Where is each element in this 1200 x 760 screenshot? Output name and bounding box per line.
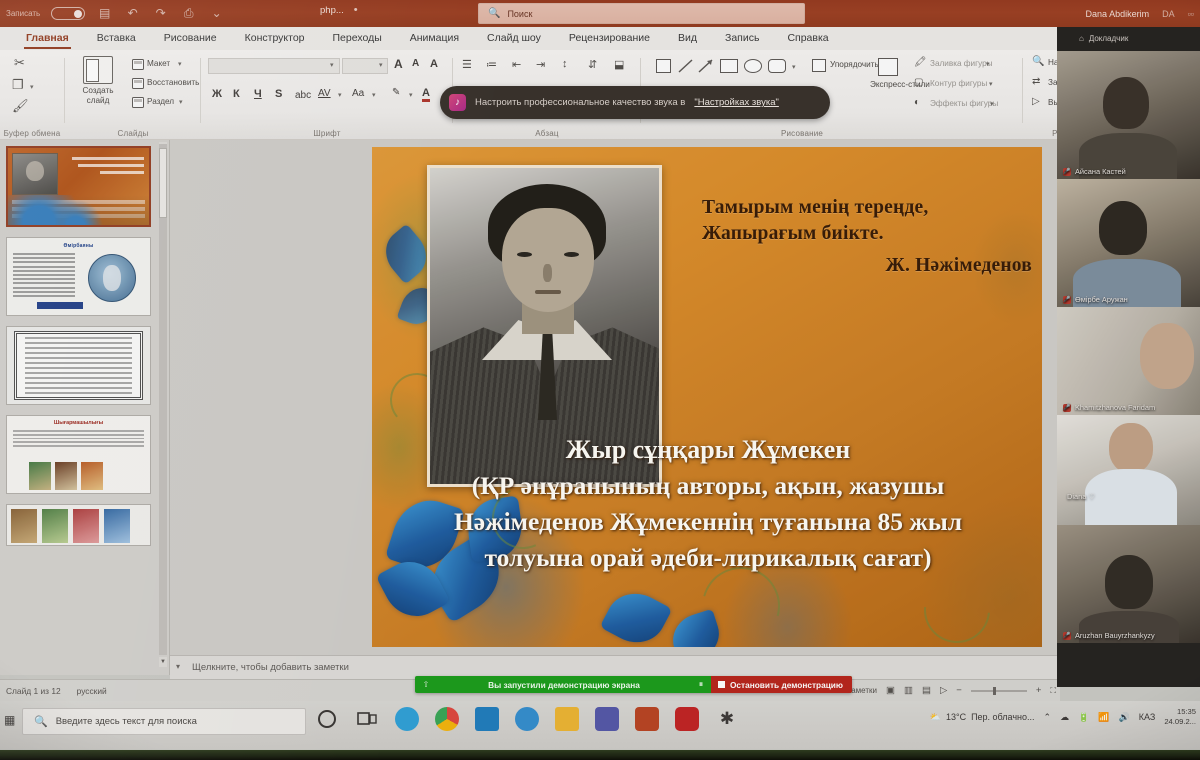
cortana-icon[interactable]	[315, 707, 339, 731]
weather-widget[interactable]: ⛅ 13°C Пер. облачно...	[930, 712, 1035, 723]
share-screen-icon: ⇧	[415, 680, 437, 689]
quote-line-1: Тамырым менің тереңде,	[702, 197, 928, 218]
group-clipboard: ✂ ❐ ▾ 🖌 Буфер обмена	[0, 50, 64, 140]
youtube-icon[interactable]	[675, 707, 699, 731]
format-painter-icon[interactable]: 🖌	[12, 98, 29, 114]
zoom-out-button[interactable]: −	[956, 685, 962, 696]
account-area[interactable]: Dana Abdikerim DA ▫▫	[1086, 0, 1194, 27]
taskbar-search-box[interactable]: 🔍 Введите здесь текст для поиска	[22, 708, 306, 735]
person-head	[1103, 77, 1149, 129]
reset-icon[interactable]	[132, 78, 144, 89]
teams-icon[interactable]	[595, 707, 619, 731]
taskbar-clock[interactable]: 15:35 24.09.2...	[1164, 707, 1196, 727]
system-tray[interactable]: ⛅ 13°C Пер. облачно... ⌃ ☁ 🔋 📶 🔊 КАЗ 15:…	[930, 707, 1196, 727]
clock-date: 24.09.2...	[1164, 717, 1196, 726]
title-line-4: толуына орай әдеби-лирикалық сағат)	[378, 540, 1038, 576]
telegram-icon[interactable]	[395, 707, 419, 731]
zoom-slider-knob[interactable]	[993, 687, 996, 695]
participant-name-1: 🎤 Айсана Кастей	[1063, 167, 1126, 176]
shape-outline-caret-icon[interactable]: ▾	[989, 80, 993, 88]
portrait-face	[502, 208, 594, 312]
task-view-icon[interactable]	[355, 707, 379, 731]
thumb-line	[100, 171, 144, 174]
shape-effects-caret-icon[interactable]: ▾	[990, 100, 994, 108]
thumbnail-5-books	[11, 509, 130, 543]
monitor-bezel-edge	[0, 750, 1200, 760]
arrow-glyph	[698, 59, 713, 73]
thumbnail-scroll-knob[interactable]	[159, 148, 167, 218]
weather-desc: Пер. облачно...	[971, 712, 1034, 722]
task-view-glyph	[355, 707, 379, 731]
replace-icon[interactable]: ⇄	[1032, 76, 1040, 87]
thumbnail-2-preview: Өмірбаяны	[7, 238, 150, 315]
clear-format-button[interactable]: A	[430, 58, 438, 70]
powerpoint-title-bar: Записать ▤ ↶ ↷ ⎙ ⌄ php...• 🔍 Поиск Dana …	[0, 0, 1200, 27]
portrait-eye	[517, 252, 532, 257]
person-head	[1105, 555, 1153, 609]
stop-sharing-label: Остановить демонстрацию	[730, 680, 843, 690]
slide-thumbnail-pane[interactable]: Өмірбаяны Шығармашылығы	[0, 140, 170, 675]
volume-icon[interactable]: 🔊	[1119, 712, 1130, 723]
thumbnail-scrollbar[interactable]	[159, 144, 167, 655]
shape-fill-label[interactable]: Заливка фигуры	[930, 59, 993, 68]
tab-risovanie[interactable]: Рисование	[150, 27, 231, 50]
chevron-down-icon[interactable]: ⌄	[208, 5, 225, 22]
slide-quote[interactable]: Тамырым менің тереңде, Жапырағым биікте.…	[702, 195, 1032, 279]
search-icon: 🔍	[34, 715, 48, 728]
stop-sharing-button[interactable]: Остановить демонстрацию	[711, 676, 852, 693]
shape-rectangle-icon[interactable]	[720, 59, 738, 73]
normal-view-icon[interactable]: ▣	[886, 685, 895, 696]
record-toggle[interactable]	[51, 7, 85, 20]
section-label[interactable]: Раздел	[147, 97, 174, 106]
tab-slayd-shou[interactable]: Слайд шоу	[473, 27, 555, 50]
participant-name-2: 🎤 Өмірбе Аружан	[1063, 295, 1128, 304]
align-text-icon[interactable]: ⬓	[614, 58, 624, 71]
thumbnail-1-preview	[8, 148, 149, 225]
video-conference-panel[interactable]: ⌂ Докладчик 🎤 Айсана Кастей 🎤 Өмірб	[1057, 27, 1200, 687]
weather-icon: ⛅	[930, 712, 941, 723]
underline-button[interactable]: Ч	[254, 88, 262, 100]
slide-edit-canvas[interactable]: Тамырым менің тереңде, Жапырағым биікте.…	[170, 140, 1060, 655]
shape-line-icon[interactable]	[678, 59, 693, 73]
teams-icon: ♪	[449, 94, 466, 111]
reading-view-icon[interactable]: ▤	[922, 685, 931, 696]
thumbnail-portrait	[12, 153, 58, 195]
audio-quality-toast[interactable]: ♪ Настроить профессиональное качество зв…	[440, 86, 830, 119]
chrome-icon[interactable]	[435, 707, 459, 731]
new-slide-icon	[83, 56, 113, 84]
participant-video-5	[1057, 525, 1200, 643]
windows-start-icon[interactable]: ▦	[4, 713, 18, 727]
title-line-1: Жыр сұңқары Жұмекен	[378, 432, 1038, 468]
quick-access-toolbar[interactable]: Записать ▤ ↶ ↷ ⎙ ⌄	[0, 5, 225, 22]
title-line-2: (ҚР әнұранының авторы, ақын, жазушы	[378, 468, 1038, 504]
tab-perehody[interactable]: Переходы	[319, 27, 396, 50]
quote-author: Ж. Нәжімеденов	[702, 253, 1032, 279]
divider	[200, 58, 201, 123]
share-status-text: Вы запустили демонстрацию экрана	[437, 680, 691, 690]
user-name: Dana Abdikerim	[1086, 9, 1150, 19]
thumbnail-scroll-down[interactable]: ▼	[159, 657, 167, 667]
slide-thumbnail-2[interactable]: Өмірбаяны	[6, 237, 151, 316]
status-bar-right: Заметки ▣ ▥ ▤ ▷ − + ⛶	[846, 685, 1056, 696]
thumbnail-4-heading: Шығармашылығы	[7, 420, 150, 426]
tab-zapis[interactable]: Запись	[711, 27, 773, 50]
participant-tile-4[interactable]: Diana ♡	[1057, 415, 1200, 525]
tab-animaciya[interactable]: Анимация	[396, 27, 473, 50]
participant-tile-5[interactable]: 🎤 Aruzhan Bauyrzhankyzy	[1057, 525, 1200, 643]
new-slide-label: Создать слайд	[72, 86, 124, 105]
group-clipboard-label: Буфер обмена	[0, 129, 64, 138]
thumb-line	[72, 157, 144, 160]
thumbnail-3-preview	[7, 327, 150, 404]
participant-name-3: 🎤 Khamitzhanova Faridam	[1063, 403, 1155, 412]
thumbnail-3-frame	[14, 331, 143, 400]
notes-collapse-icon[interactable]: ▾	[176, 662, 180, 671]
bullets-icon[interactable]: ☰	[462, 58, 472, 71]
windows-taskbar: ▦ 🔍 Введите здесь текст для поиска ✱	[0, 701, 1200, 749]
shape-arrow-icon[interactable]	[698, 59, 713, 73]
thumbnail-4-books	[29, 462, 103, 490]
conference-header-label: Докладчик	[1089, 34, 1128, 43]
participant-video-2	[1057, 179, 1200, 307]
shape-effects-icon[interactable]: ◐	[914, 97, 920, 108]
record-label: Записать	[6, 9, 40, 18]
tab-spravka[interactable]: Справка	[773, 27, 842, 50]
pause-icon[interactable]: ⏸	[691, 679, 711, 690]
person-head	[1140, 323, 1194, 389]
copy-icon[interactable]: ❐	[12, 77, 24, 93]
language-indicator[interactable]: КАЗ	[1139, 712, 1156, 722]
zoom-in-button[interactable]: +	[1036, 685, 1042, 696]
person-body	[1085, 469, 1177, 525]
slideshow-icon[interactable]: ▷	[940, 685, 947, 696]
divider	[64, 58, 65, 123]
slide-thumbnail-5[interactable]	[6, 504, 151, 546]
mic-muted-icon: 🎤	[1063, 404, 1071, 412]
onedrive-icon[interactable]: ☁	[1060, 712, 1069, 723]
quick-styles-label[interactable]: Экспресс-стили	[870, 80, 910, 89]
notes-placeholder: Щелкните, чтобы добавить заметки	[192, 662, 349, 673]
chevron-up-icon[interactable]: ⌃	[1044, 712, 1052, 723]
portrait-mouth	[535, 290, 561, 294]
document-title: php...•	[320, 4, 358, 16]
shrink-font-button[interactable]: A	[412, 58, 419, 69]
search-placeholder: Поиск	[507, 9, 532, 19]
search-icon: 🔍	[488, 8, 500, 19]
shapes-more-caret-icon[interactable]: ▾	[792, 63, 796, 71]
participant-tile-3[interactable]: 🎤 Khamitzhanova Faridam	[1057, 307, 1200, 415]
explorer-icon[interactable]	[555, 707, 579, 731]
screen-photo: Записать ▤ ↶ ↷ ⎙ ⌄ php...• 🔍 Поиск Dana …	[0, 0, 1200, 760]
layout-caret-icon[interactable]: ▾	[178, 60, 182, 68]
participant-video-4	[1057, 415, 1200, 525]
highlight-icon[interactable]: ✎	[392, 87, 400, 98]
thumb-ornament	[8, 195, 149, 225]
avatar[interactable]: DA	[1162, 9, 1175, 19]
undo-icon[interactable]: ↶	[124, 5, 141, 22]
reset-label[interactable]: Восстановить	[147, 78, 199, 87]
text-direction-icon[interactable]: ⇵	[588, 58, 597, 71]
arrange-label[interactable]: Упорядочить	[830, 60, 879, 69]
network-icon[interactable]: 📶	[1098, 712, 1109, 723]
shape-fill-icon[interactable]: 🖍	[914, 57, 927, 68]
thumbnail-2-heading: Өмірбаяны	[7, 243, 150, 249]
shape-effects-label[interactable]: Эффекты фигуры	[930, 99, 998, 108]
cortana-glyph	[315, 707, 339, 731]
slide-counter[interactable]: Слайд 1 из 12	[6, 686, 61, 696]
font-name-caret-icon[interactable]: ▾	[330, 61, 334, 69]
person-head	[1099, 201, 1147, 255]
person-head	[1109, 423, 1153, 473]
line-glyph	[678, 59, 693, 73]
save-icon[interactable]: ▤	[96, 5, 113, 22]
thumbnail-5-preview	[7, 505, 150, 545]
spacing-caret-icon[interactable]: ▾	[338, 91, 342, 99]
thumbnail-2-text	[13, 253, 75, 299]
slide-thumbnail-1[interactable]	[6, 146, 151, 227]
thumbnail-4-text	[13, 430, 144, 449]
participant-name-4: Diana ♡	[1067, 492, 1095, 501]
numbering-icon[interactable]: ≔	[486, 58, 497, 71]
copy-caret-icon[interactable]: ▾	[30, 83, 34, 91]
presenter-icon: ⌂	[1079, 34, 1084, 43]
participant-video-3	[1057, 307, 1200, 415]
strikethrough-button[interactable]: abc	[295, 90, 311, 101]
mic-muted-icon: 🎤	[1063, 296, 1071, 304]
font-size-caret-icon[interactable]: ▾	[379, 61, 383, 69]
participant-video-1	[1057, 51, 1200, 179]
tab-konstruktor[interactable]: Конструктор	[231, 27, 319, 50]
section-caret-icon[interactable]: ▾	[179, 98, 183, 106]
thumbnail-4-preview: Шығармашылығы	[7, 416, 150, 493]
powerpoint-icon[interactable]	[635, 707, 659, 731]
tab-vid[interactable]: Вид	[664, 27, 711, 50]
shape-outline-icon[interactable]: ▢	[914, 77, 923, 88]
italic-button[interactable]: К	[233, 88, 240, 100]
shape-fill-caret-icon[interactable]: ▾	[986, 60, 990, 68]
group-slides: Создать слайд Макет ▾ Восстановить Разде…	[66, 50, 200, 140]
title-line-3: Нәжімеденов Жұмекеннің туғанына 85 жыл	[378, 504, 1038, 540]
tab-vstavka[interactable]: Вставка	[83, 27, 150, 50]
taskbar-app-icons[interactable]: ✱	[315, 707, 739, 731]
slide-title-text[interactable]: Жыр сұңқары Жұмекен (ҚР әнұранының автор…	[378, 432, 1038, 576]
stop-square-icon	[718, 681, 725, 688]
conference-header: ⌂ Докладчик	[1057, 27, 1200, 49]
font-name-combo[interactable]	[208, 58, 340, 74]
layout-label[interactable]: Макет	[147, 59, 170, 68]
taskbar-search-placeholder: Введите здесь текст для поиска	[56, 716, 197, 727]
thumbnail-2-photo	[88, 254, 136, 302]
weather-temp: 13°C	[946, 712, 966, 722]
autosave-dot: •	[354, 4, 358, 16]
find-icon[interactable]: 🔍	[1032, 56, 1044, 67]
line-spacing-icon[interactable]: ↕	[562, 58, 568, 70]
slide-thumbnail-3[interactable]	[6, 326, 151, 405]
case-caret-icon[interactable]: ▾	[372, 91, 376, 99]
mic-muted-icon: 🎤	[1063, 168, 1071, 176]
tab-glavnaya[interactable]: Главная	[12, 27, 83, 50]
change-case-button[interactable]: Aa	[352, 88, 364, 99]
bold-button[interactable]: Ж	[212, 88, 222, 100]
group-font-label: Шрифт	[202, 129, 452, 138]
section-icon[interactable]	[132, 97, 144, 108]
mail-icon[interactable]	[475, 707, 499, 731]
select-icon[interactable]: ▷	[1032, 96, 1040, 107]
increase-indent-icon[interactable]: ⇥	[536, 58, 545, 71]
slide-sorter-icon[interactable]: ▥	[904, 685, 913, 696]
edge-icon[interactable]	[515, 707, 539, 731]
settings-icon[interactable]: ✱	[715, 707, 739, 731]
shape-rounded-rect-icon[interactable]	[768, 59, 786, 73]
present-icon[interactable]: ⎙	[180, 5, 197, 22]
character-spacing-button[interactable]: AV	[318, 88, 331, 99]
participant-tile-1[interactable]: 🎤 Айсана Кастей	[1057, 51, 1200, 179]
tab-recenzirovanie[interactable]: Рецензирование	[555, 27, 664, 50]
highlight-caret-icon[interactable]: ▾	[409, 91, 413, 99]
zoom-slider[interactable]	[971, 690, 1027, 692]
screen-share-bar: ⇧ Вы запустили демонстрацию экрана ⏸ Ост…	[415, 676, 852, 693]
language-indicator[interactable]: русский	[77, 686, 107, 696]
decrease-indent-icon[interactable]: ⇤	[512, 58, 521, 71]
grow-font-button[interactable]: A	[394, 57, 403, 71]
divider	[1022, 58, 1023, 123]
new-slide-button[interactable]: Создать слайд	[72, 56, 124, 105]
redo-icon[interactable]: ↷	[152, 5, 169, 22]
ribbon-tab-strip[interactable]: Главная Вставка Рисование Конструктор Пе…	[0, 27, 1200, 50]
current-slide[interactable]: Тамырым менің тереңде, Жапырағым биікте.…	[372, 147, 1042, 647]
audio-settings-link[interactable]: "Настройках звука"	[694, 97, 779, 108]
mic-muted-icon: 🎤	[1063, 632, 1071, 640]
thumb-line	[78, 164, 144, 167]
quote-line-2: Жапырағым биікте.	[702, 223, 884, 244]
shape-textbox-icon[interactable]	[656, 59, 671, 73]
slide-thumbnail-4[interactable]: Шығармашылығы	[6, 415, 151, 494]
fit-slide-icon[interactable]: ⛶	[1050, 686, 1056, 696]
shape-outline-label[interactable]: Контур фигуры	[930, 79, 987, 88]
participant-tile-2[interactable]: 🎤 Өмірбе Аружан	[1057, 179, 1200, 307]
ribbon-search-box[interactable]: 🔍 Поиск	[478, 3, 805, 24]
layout-icon[interactable]	[132, 59, 144, 70]
audio-toast-message: Настроить профессиональное качество звук…	[475, 97, 685, 108]
clock-time: 15:35	[1177, 707, 1196, 716]
group-font: ▾ ▾ A A A Ж К Ч S abc AV ▾ Aa ▾ ✎ ▾ A Шр…	[202, 50, 452, 140]
battery-icon[interactable]: 🔋	[1078, 712, 1089, 723]
quick-styles-icon[interactable]	[878, 58, 898, 76]
text-shadow-button[interactable]: S	[275, 88, 282, 100]
portrait-nose	[543, 264, 552, 282]
participant-name-5: 🎤 Aruzhan Bauyrzhankyzy	[1063, 631, 1155, 640]
portrait-eye	[564, 252, 579, 257]
group-slides-label: Слайды	[66, 129, 200, 138]
font-color-button[interactable]: A	[422, 87, 430, 102]
cut-icon[interactable]: ✂	[14, 55, 25, 71]
thumbnail-2-bar	[37, 302, 83, 309]
group-drawing-label: Рисование	[722, 129, 882, 138]
shape-oval-icon[interactable]	[744, 59, 762, 73]
arrange-icon[interactable]	[812, 59, 826, 72]
group-paragraph-label: Абзац	[454, 129, 640, 138]
window-controls[interactable]: ▫▫	[1188, 9, 1194, 19]
